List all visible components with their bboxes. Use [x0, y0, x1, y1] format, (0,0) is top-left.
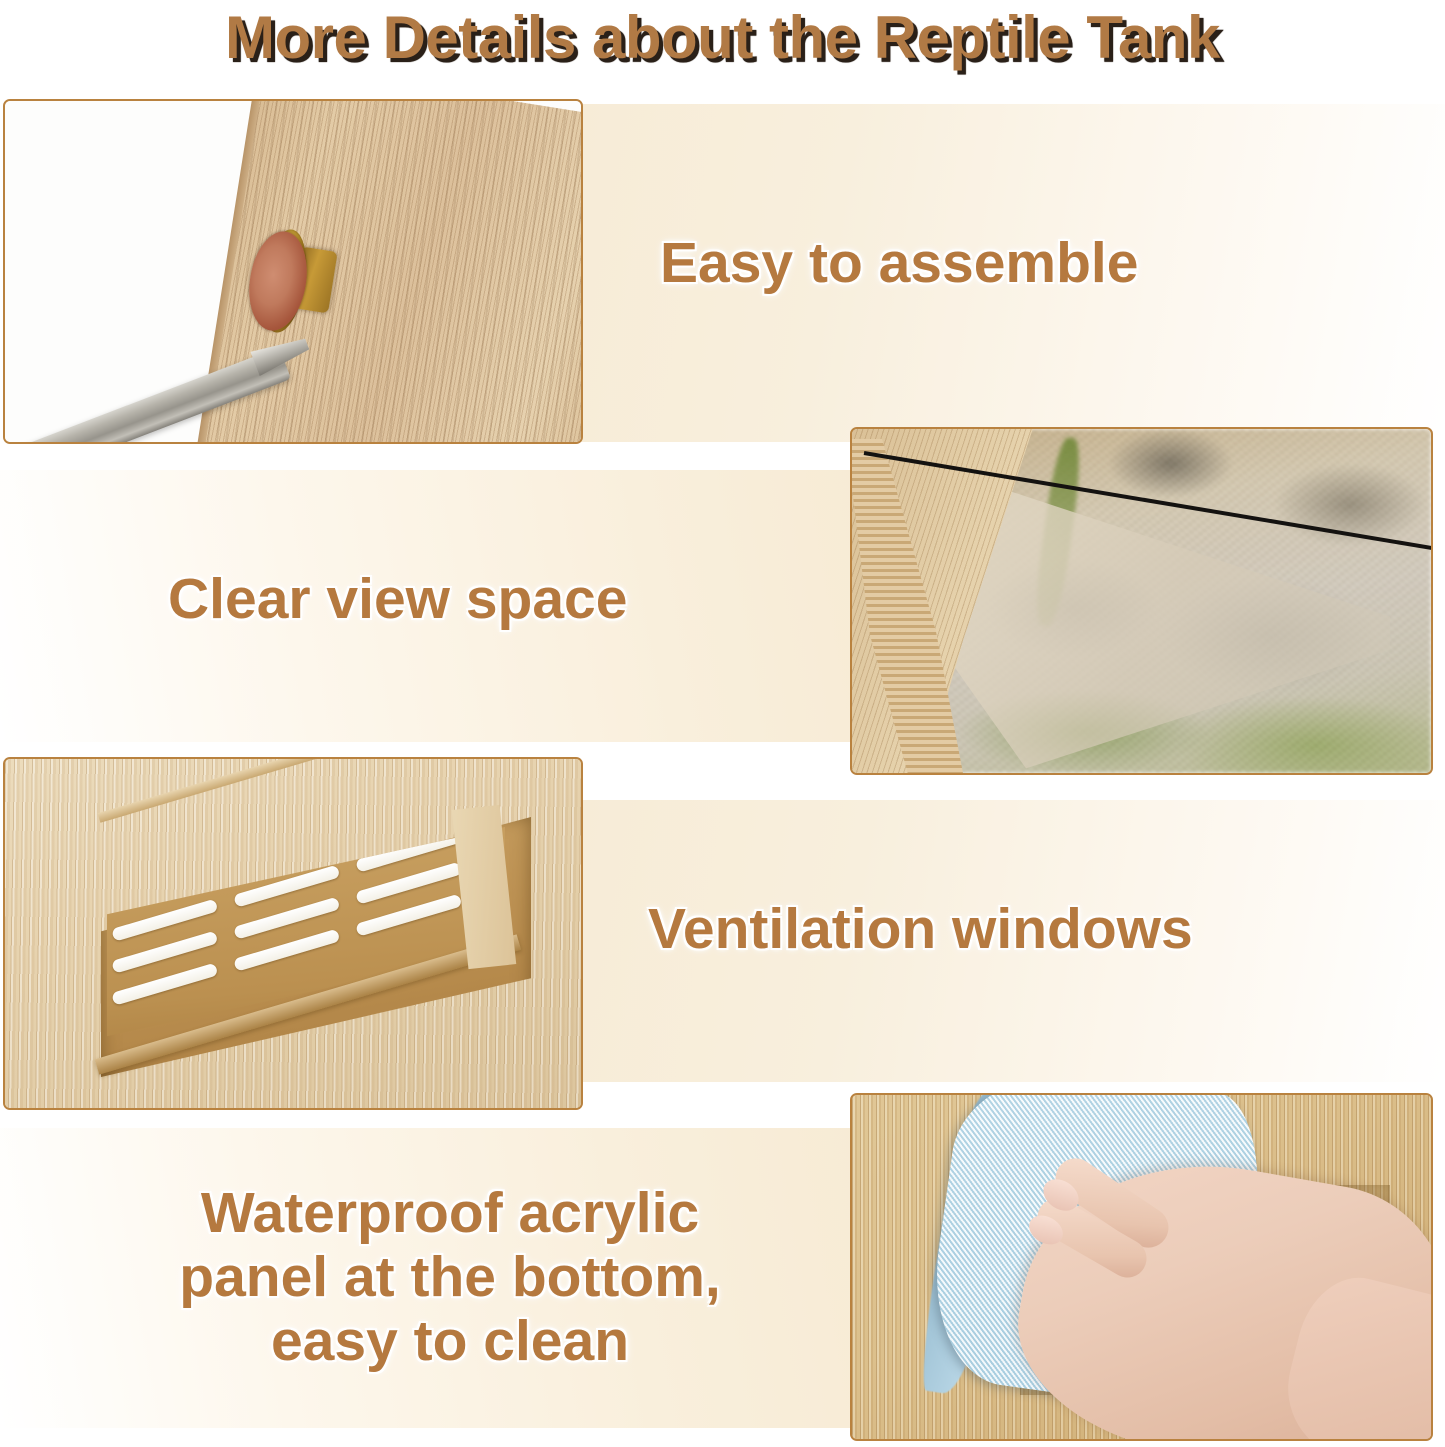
feature-caption-waterproof-acrylic-panel: Waterproof acrylic panel at the bottom, …	[100, 1182, 800, 1373]
feature-image-easy-to-assemble	[3, 99, 583, 444]
page-title: More Details about the Reptile Tank	[0, 0, 1445, 76]
feature-image-clear-view-space	[850, 427, 1433, 775]
feature-caption-clear-view-space: Clear view space	[168, 568, 627, 632]
feature-caption-easy-to-assemble: Easy to assemble	[660, 232, 1138, 296]
feature-caption-ventilation-windows: Ventilation windows	[648, 898, 1193, 962]
infographic-page: More Details about the Reptile Tank Easy…	[0, 0, 1445, 1447]
feature-image-ventilation-windows	[3, 757, 583, 1110]
feature-image-waterproof-acrylic-panel	[850, 1093, 1433, 1441]
